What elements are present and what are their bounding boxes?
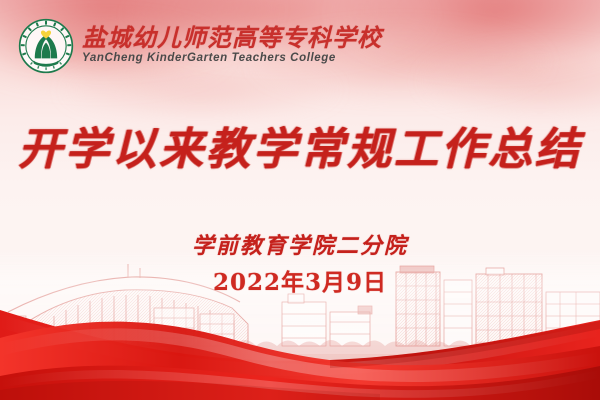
presentation-title-slide: 盐城幼儿师范高等专科学校 YanCheng KinderGarten Teach… <box>0 0 600 400</box>
slide-header: 盐城幼儿师范高等专科学校 YanCheng KinderGarten Teach… <box>18 18 382 74</box>
school-name-english: YanCheng KinderGarten Teachers College <box>82 50 382 67</box>
red-silk-ribbon-waves <box>0 280 600 400</box>
page-title: 开学以来教学常规工作总结 <box>0 126 600 174</box>
school-name-chinese: 盐城幼儿师范高等专科学校 <box>82 25 382 50</box>
school-name-block: 盐城幼儿师范高等专科学校 YanCheng KinderGarten Teach… <box>82 25 382 67</box>
presentation-date: 2022年3月9日 <box>0 263 600 297</box>
page-subtitle: 学前教育学院二分院 <box>0 228 600 260</box>
school-crest-logo <box>18 18 74 74</box>
school-crest-logo-icon <box>18 18 74 74</box>
